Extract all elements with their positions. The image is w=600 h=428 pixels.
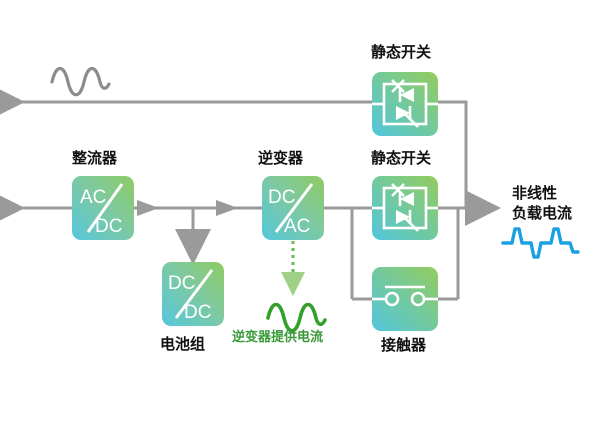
rectifier-line2: DC [95, 216, 122, 237]
label-static-switch-top: 静态开关 [371, 44, 431, 61]
battery-line2: DC [184, 302, 211, 323]
wire-bypass-out [438, 102, 466, 208]
battery-line1: DC [168, 273, 195, 294]
input-sine-wave-icon [52, 69, 109, 95]
block-battery[interactable]: DC DC [162, 262, 224, 326]
rectifier-line1: AC [80, 187, 106, 208]
label-output-line1: 非线性 [512, 185, 557, 202]
label-inverter-supply: 逆变器提供电流 [232, 330, 323, 345]
inverter-sine-wave-icon [268, 305, 325, 331]
inverter-line1: DC [268, 187, 295, 208]
block-inverter[interactable]: DC AC [262, 176, 324, 240]
arrow-dcbus-2 [216, 200, 238, 216]
label-rectifier: 整流器 [72, 150, 117, 167]
label-battery: 电池组 [160, 336, 205, 353]
label-inverter: 逆变器 [258, 150, 303, 167]
arrow-dcbus-1 [137, 200, 159, 216]
label-output-line2: 负载电流 [512, 205, 572, 222]
block-contactor[interactable] [372, 267, 438, 331]
block-rectifier[interactable]: AC DC [72, 176, 134, 240]
label-contactor: 接触器 [381, 337, 426, 354]
inverter-line2: AC [284, 216, 310, 237]
block-static-switch-top[interactable] [372, 72, 438, 136]
diagram-canvas: AC DC DC DC DC AC [0, 0, 600, 428]
block-static-switch-mid[interactable] [372, 176, 438, 240]
inverter-supply-arrow [281, 241, 305, 296]
ups-block-diagram: AC DC DC DC DC AC [0, 0, 600, 428]
label-static-switch-mid: 静态开关 [371, 150, 431, 167]
nonlinear-load-wave-icon [503, 229, 578, 257]
